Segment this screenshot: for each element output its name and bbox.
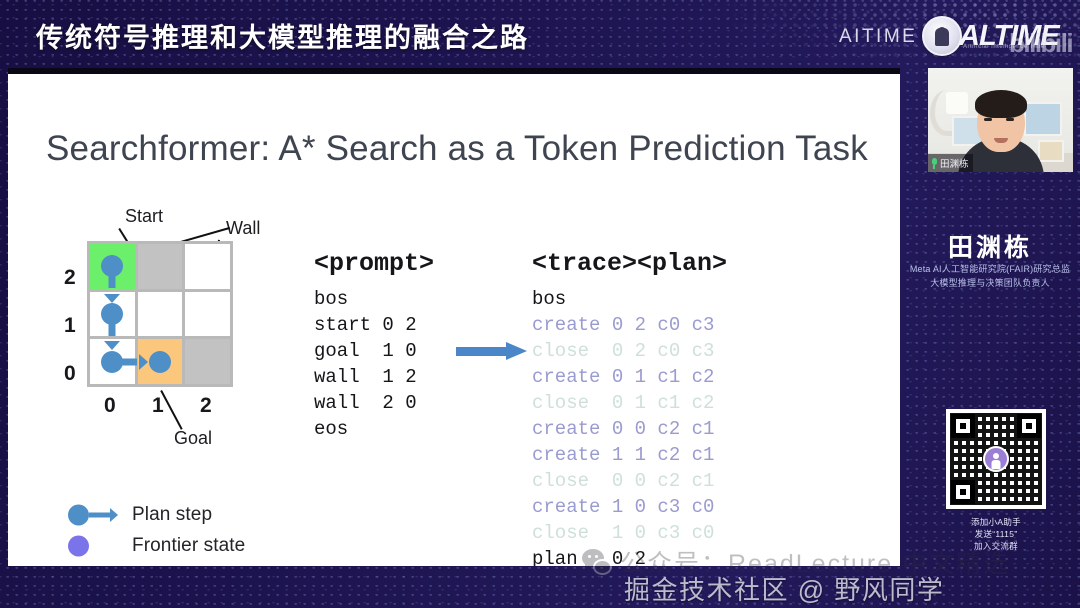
brand-cluster: AITIME ALTIME Artificial Intelligence Ti… [839,14,1074,58]
qr-caption-line-2: 发送“1115” [946,528,1046,540]
grid-x-label-2: 2 [200,394,212,418]
grid-figure: Start Wall Goal 2 1 0 0 1 2 [60,206,300,496]
qr-finder-top-right [1017,414,1041,438]
prompt-line: bos [314,286,434,312]
prompt-line: start 0 2 [314,312,434,338]
webcam-person-eye [984,118,992,121]
trace-line: bos [532,286,727,312]
grid-cell-1-2 [138,244,183,289]
speaker-affiliation-line-1: Meta AI人工智能研究院(FAIR)研究总监 [900,262,1080,275]
webcam-name-label: 田渊栋 [940,156,969,170]
qr-code-image[interactable] [946,409,1046,509]
legend-swatch-plan-step [60,502,132,528]
flow-arrow-icon [456,342,528,360]
prompt-line: goal 1 0 [314,338,434,364]
plan-link-right-0-0 [115,358,137,365]
legend-swatch-frontier-state [60,533,132,559]
grid-cell-1-1 [138,292,183,337]
webcam-lamp-shade [946,92,968,114]
wechat-bubble-dot [588,555,591,558]
flow-arrow-head [506,342,527,360]
webcam-feed[interactable]: 田渊栋 [928,68,1073,172]
speaker-panel: 田渊栋 田渊栋 Meta AI人工智能研究院(FAIR)研究总监 大模型推理与决… [900,64,1080,608]
maze-grid [87,241,233,387]
grid-cell-2-1 [185,292,230,337]
plan-step-arrowhead-icon [110,508,118,522]
grid-x-label-0: 0 [104,394,116,418]
plan-step-dot-icon [68,504,89,525]
grid-y-label-2: 2 [64,266,76,290]
frontier-state-dot-icon [68,535,89,556]
prompt-token-column: <prompt> bos start 0 2 goal 1 0 wall 1 2… [314,249,434,442]
trace-line: close 0 2 c0 c3 [532,338,727,364]
trace-line: create 1 1 c2 c1 [532,442,727,468]
qr-center-avatar-icon [983,446,1009,472]
legend-item-closed-state: Closed state [60,561,320,566]
grid-cell-0-1 [90,292,135,337]
plan-arrowhead-1-0 [139,354,148,370]
wechat-icon [582,549,612,575]
webcam-person-hair [975,90,1027,118]
plan-node-1-0 [149,351,171,373]
badge-figure-body [935,28,949,46]
slide-title: Searchformer: A* Search as a Token Predi… [46,129,868,169]
trace-line: close 0 0 c2 c1 [532,468,727,494]
grid-cell-2-0 [185,339,230,384]
trace-line: create 1 0 c3 c0 [532,494,727,520]
grid-y-label-1: 1 [64,314,76,338]
legend-item-plan-step: Plan step [60,499,320,530]
grid-y-label-0: 0 [64,362,76,386]
plan-step-arrow-icon [89,512,111,517]
grid-cell-0-0 [90,339,135,384]
grid-cell-2-2 [185,244,230,289]
talk-title: 传统符号推理和大模型推理的融合之路 [36,16,529,55]
prompt-line: wall 2 0 [314,390,434,416]
legend-label-frontier-state: Frontier state [132,535,245,557]
juejin-watermark: 掘金技术社区 @ 野风同学 [624,570,944,607]
trace-line: create 0 2 c0 c3 [532,312,727,338]
speaker-name: 田渊栋 [900,228,1080,264]
plan-link-down-0-2 [109,271,116,288]
plan-arrowhead-0-0 [104,341,120,350]
trace-line: close 0 1 c1 c2 [532,390,727,416]
qr-code-block: 添加小A助手 发送“1115” 加入交流群 [946,409,1046,552]
legend-item-frontier-state: Frontier state [60,530,320,561]
webcam-name-badge: 田渊栋 [928,154,973,172]
qr-finder-bottom-left [951,480,975,504]
legend-label-plan-step: Plan step [132,504,212,526]
legend-swatch-closed-state [60,564,132,567]
bilibili-watermark: bilibili [1009,28,1072,59]
prompt-line: eos [314,416,434,442]
grid-x-label-1: 1 [152,394,164,418]
flow-arrow-body [456,347,508,356]
trace-line: create 0 0 c2 c1 [532,416,727,442]
callout-wall: Wall [226,218,260,239]
aitime-wordmark: AITIME [839,26,917,48]
trace-token-column: <trace><plan> bos create 0 2 c0 c3 close… [532,249,727,566]
webcam-picture-frame [1024,102,1062,136]
grid-cell-1-0 [138,339,183,384]
speaker-affiliation-line-2: 大模型推理与决策团队负责人 [900,276,1080,289]
qr-finder-top-left [951,414,975,438]
grid-cell-0-2 [90,244,135,289]
webcam-picture-frame [1038,140,1064,162]
wechat-bubble-dot [595,555,598,558]
aitime-badge-icon [922,16,962,56]
trace-line: create 0 1 c1 c2 [532,364,727,390]
figure-legend: Plan step Frontier state Closed state [60,499,320,566]
plan-arrowhead-0-1 [104,294,120,303]
qr-caption-line-1: 添加小A助手 [946,516,1046,528]
presentation-slide: Searchformer: A* Search as a Token Predi… [8,68,900,566]
trace-heading: <trace><plan> [532,249,727,278]
callout-goal: Goal [174,428,212,449]
prompt-line: wall 1 2 [314,364,434,390]
callout-start: Start [125,206,163,227]
prompt-heading: <prompt> [314,249,434,278]
microphone-icon [930,158,938,169]
webcam-person-eye [1006,118,1014,121]
trace-line: close 1 0 c3 c0 [532,520,727,546]
plan-link-down-0-1 [109,321,116,336]
legend-label-closed-state: Closed state [132,566,239,567]
wechat-bubble-small [593,559,612,575]
